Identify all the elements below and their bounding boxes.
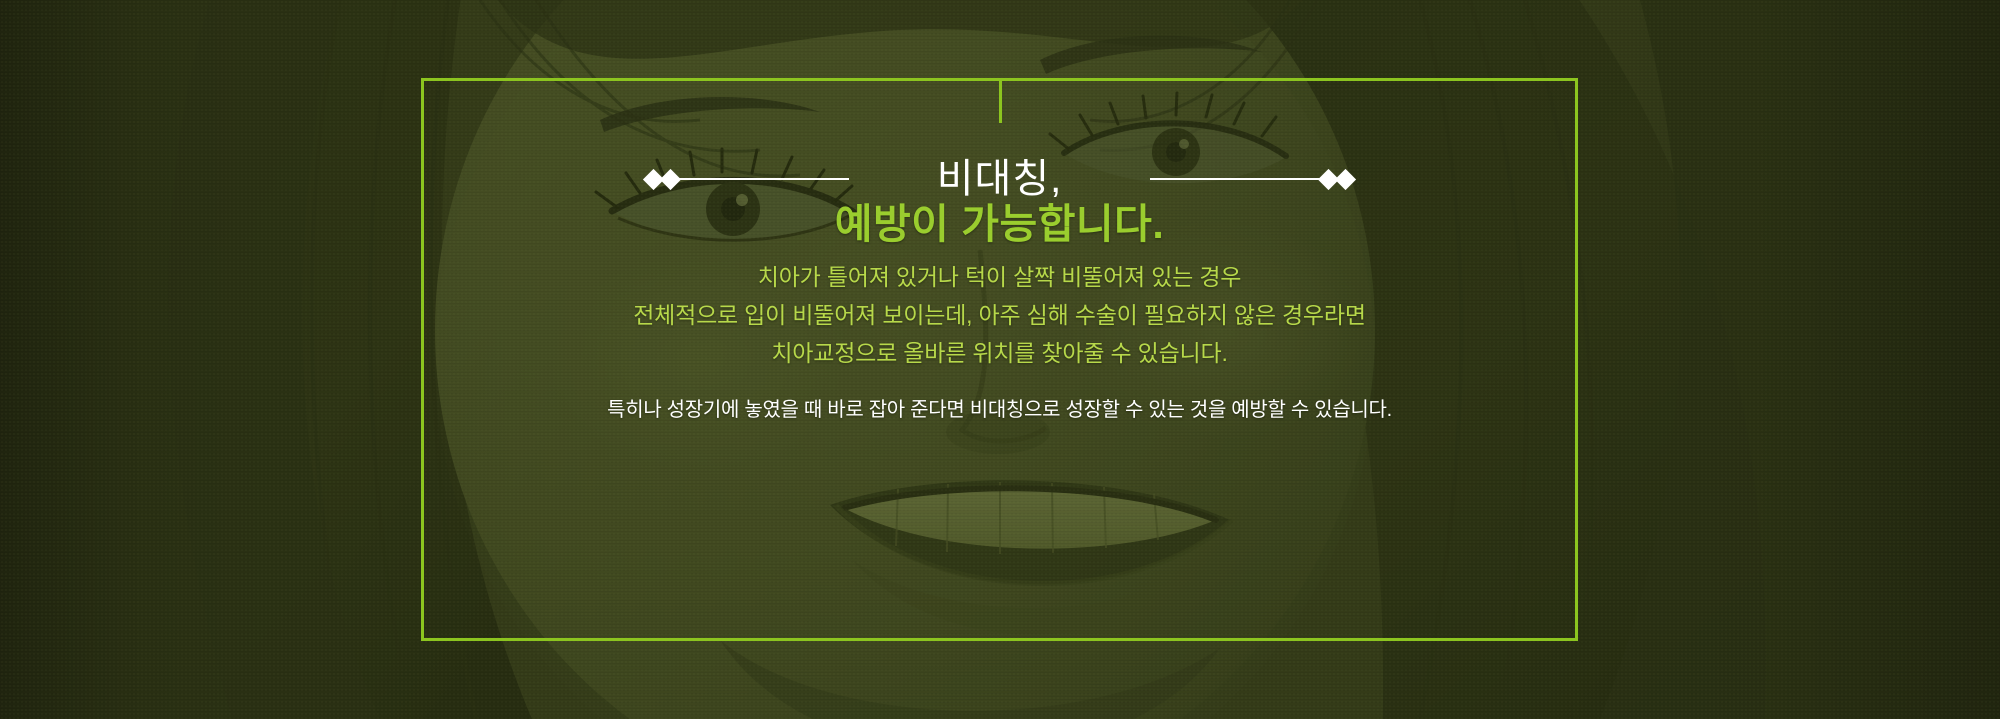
diamond-rule-right xyxy=(1150,172,1354,187)
rule-line xyxy=(679,178,849,180)
body-line-1: 치아가 틀어져 있거나 턱이 살짝 비뚤어져 있는 경우 xyxy=(421,258,1578,296)
body-line-2: 전체적으로 입이 비뚤어져 보이는데, 아주 심해 수술이 필요하지 않은 경우… xyxy=(421,296,1578,334)
diamond-rule-left xyxy=(645,172,849,187)
content-area: 비대칭, 예방이 가능합니다. 치아가 틀어져 있거나 턱이 살짝 비뚤어져 있… xyxy=(421,78,1578,641)
diamond-icon xyxy=(660,168,681,189)
rule-line xyxy=(1150,178,1320,180)
promo-banner: 비대칭, 예방이 가능합니다. 치아가 틀어져 있거나 턱이 살짝 비뚤어져 있… xyxy=(0,0,2000,719)
diamond-icon xyxy=(1335,168,1356,189)
footnote-text: 특히나 성장기에 놓였을 때 바로 잡아 준다면 비대칭으로 성장할 수 있는 … xyxy=(421,393,1578,422)
headline-accent: 예방이 가능합니다. xyxy=(421,190,1578,250)
body-line-3: 치아교정으로 올바른 위치를 찾아줄 수 있습니다. xyxy=(421,334,1578,372)
body-copy: 치아가 틀어져 있거나 턱이 살짝 비뚤어져 있는 경우 전체적으로 입이 비뚤… xyxy=(421,258,1578,372)
